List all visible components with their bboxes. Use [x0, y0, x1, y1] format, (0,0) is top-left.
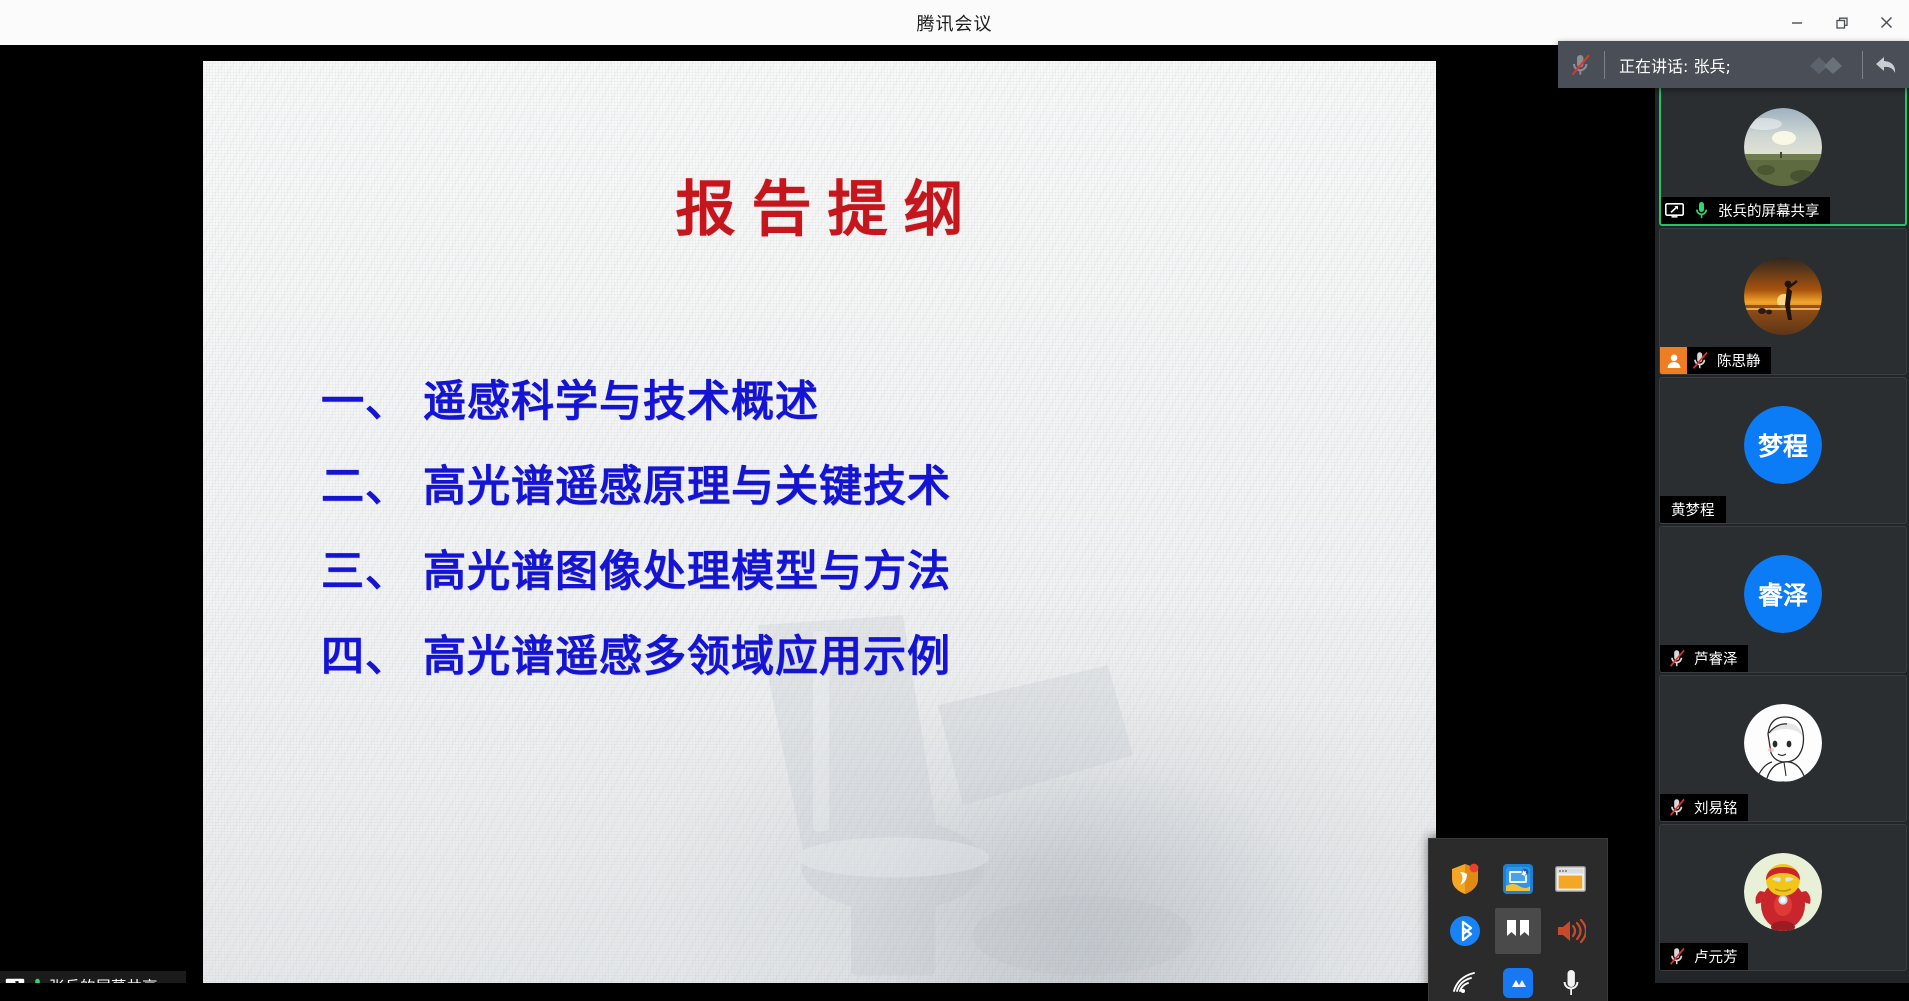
- slide-outline-item: 四、高光谱遥感多领域应用示例: [321, 636, 1396, 679]
- mic-off-icon: [1669, 798, 1686, 817]
- shared-screen-stage[interactable]: 报告提纲 一、遥感科学与技术概述 二、高光谱遥感原理与关键技术 三、高光谱图像处…: [0, 45, 1655, 1001]
- avatar-photo-ironman: [1744, 853, 1822, 931]
- avatar: 睿泽: [1744, 555, 1822, 633]
- tile-footer: 卢元芳: [1660, 943, 1748, 970]
- outline-text: 高光谱图像处理模型与方法: [423, 547, 951, 597]
- avatar-photo-sunset: [1744, 257, 1822, 335]
- participant-name: 黄梦程: [1671, 499, 1715, 520]
- host-person-icon: [1666, 353, 1682, 369]
- participant-tile[interactable]: 陈思静: [1659, 228, 1907, 375]
- slide-title: 报告提纲: [203, 161, 1436, 248]
- bluetooth-icon[interactable]: [1442, 908, 1488, 954]
- wifi-glyph: [1451, 971, 1479, 995]
- outline-number: 一、: [321, 377, 409, 427]
- restore-icon: [1835, 16, 1849, 30]
- participant-name: 卢元芳: [1690, 946, 1738, 967]
- window-title-bar: 腾讯会议: [0, 0, 1909, 45]
- participant-tile[interactable]: 睿泽 芦睿泽: [1659, 526, 1907, 673]
- mic-indicator: [1664, 943, 1690, 970]
- avatar: [1744, 704, 1822, 782]
- avatar-photo-grassland: [1744, 108, 1822, 186]
- participant-name: 刘易铭: [1690, 797, 1738, 818]
- close-button[interactable]: [1864, 0, 1909, 45]
- outline-text: 高光谱遥感原理与关键技术: [423, 462, 951, 512]
- microphone-glyph: [1563, 969, 1579, 997]
- tile-footer: 张兵的屏幕共享: [1661, 197, 1830, 224]
- mic-indicator: [1687, 347, 1713, 374]
- slide-content: 报告提纲 一、遥感科学与技术概述 二、高光谱遥感原理与关键技术 三、高光谱图像处…: [203, 61, 1436, 985]
- avatar: [1744, 108, 1822, 186]
- shield-glyph: [1450, 863, 1480, 895]
- security-shield-icon[interactable]: [1442, 856, 1488, 902]
- participant-tile[interactable]: 张兵的屏幕共享: [1659, 79, 1907, 226]
- window-glyph: [1555, 866, 1586, 892]
- microphone-icon[interactable]: [1548, 960, 1594, 1001]
- mic-off-icon: [1570, 53, 1592, 77]
- slide-outline-item: 三、高光谱图像处理模型与方法: [321, 551, 1396, 594]
- screen-share-icon: [1665, 203, 1684, 218]
- tile-footer: 陈思静: [1660, 347, 1771, 374]
- taskbar: [0, 983, 1909, 1001]
- speaker-glyph: [1556, 918, 1586, 944]
- window-title: 腾讯会议: [917, 10, 993, 36]
- bluetooth-glyph: [1450, 916, 1480, 946]
- tencent-meeting-icon[interactable]: [1495, 960, 1541, 1001]
- graphics-glyph: [1503, 864, 1533, 894]
- mic-off-icon: [1669, 649, 1686, 668]
- participant-tile[interactable]: 卢元芳: [1659, 824, 1907, 971]
- avatar: [1744, 853, 1822, 931]
- outline-number: 二、: [321, 462, 409, 512]
- mic-off-icon: [1669, 947, 1686, 966]
- tencent-meeting-logo-icon: [1800, 53, 1862, 77]
- speaking-status-bar[interactable]: 正在讲话: 张兵;: [1558, 41, 1909, 88]
- avatar-photo-anime: [1744, 704, 1822, 782]
- close-icon: [1879, 15, 1894, 30]
- outline-number: 三、: [321, 547, 409, 597]
- participant-tile[interactable]: 刘易铭: [1659, 675, 1907, 822]
- participant-tile[interactable]: 梦程 黄梦程: [1659, 377, 1907, 524]
- return-to-meeting-button[interactable]: [1863, 55, 1909, 75]
- meeting-logo-mark: [1808, 53, 1854, 77]
- mic-indicator: [1664, 794, 1690, 821]
- minimize-icon: [1790, 16, 1804, 30]
- mic-indicator: [1664, 645, 1690, 672]
- tile-footer: 黄梦程: [1660, 496, 1726, 523]
- window-controls: [1774, 0, 1909, 45]
- intel-graphics-icon[interactable]: [1495, 856, 1541, 902]
- screen-share-badge: [1661, 197, 1688, 224]
- volume-icon[interactable]: [1548, 908, 1594, 954]
- outline-text: 遥感科学与技术概述: [423, 377, 819, 427]
- slide-outline-item: 二、高光谱遥感原理与关键技术: [321, 466, 1396, 509]
- outline-text: 高光谱遥感多领域应用示例: [423, 632, 951, 682]
- participant-name: 陈思静: [1713, 350, 1761, 371]
- participant-rail[interactable]: 张兵的屏幕共享: [1655, 45, 1909, 1001]
- avatar-initials: 睿泽: [1744, 555, 1822, 633]
- minimize-button[interactable]: [1774, 0, 1819, 45]
- tile-footer: 刘易铭: [1660, 794, 1748, 821]
- slide-outline-item: 一、遥感科学与技术概述: [321, 381, 1396, 424]
- grid-glyph: [1505, 918, 1531, 944]
- outline-number: 四、: [321, 632, 409, 682]
- mic-on-icon: [1695, 201, 1708, 220]
- stage-inner: 报告提纲 一、遥感科学与技术概述 二、高光谱遥感原理与关键技术 三、高光谱图像处…: [0, 61, 1655, 985]
- meeting-app-glyph: [1503, 968, 1533, 998]
- avatar: 梦程: [1744, 406, 1822, 484]
- restore-button[interactable]: [1819, 0, 1864, 45]
- host-badge: [1660, 347, 1687, 374]
- presentation-slide: 报告提纲 一、遥感科学与技术概述 二、高光谱遥感原理与关键技术 三、高光谱图像处…: [203, 61, 1436, 985]
- system-tray-flyout[interactable]: [1428, 838, 1608, 1001]
- mic-off-icon: [1692, 351, 1709, 370]
- meeting-body: 报告提纲 一、遥感科学与技术概述 二、高光谱遥感原理与关键技术 三、高光谱图像处…: [0, 45, 1909, 1001]
- app-grid-icon[interactable]: [1495, 908, 1541, 954]
- participant-name: 芦睿泽: [1690, 648, 1738, 669]
- wifi-icon[interactable]: [1442, 960, 1488, 1001]
- slide-outline-list: 一、遥感科学与技术概述 二、高光谱遥感原理与关键技术 三、高光谱图像处理模型与方…: [321, 381, 1396, 721]
- app-root: 腾讯会议: [0, 0, 1909, 1001]
- mic-indicator: [1688, 197, 1714, 224]
- tile-footer: 芦睿泽: [1660, 645, 1748, 672]
- participant-name: 张兵的屏幕共享: [1714, 200, 1820, 221]
- mic-indicator[interactable]: [1558, 41, 1604, 88]
- back-arrow-icon: [1874, 55, 1898, 75]
- speaking-status-text: 正在讲话: 张兵;: [1605, 53, 1800, 77]
- avatar: [1744, 257, 1822, 335]
- window-manager-icon[interactable]: [1548, 856, 1594, 902]
- avatar-initials: 梦程: [1744, 406, 1822, 484]
